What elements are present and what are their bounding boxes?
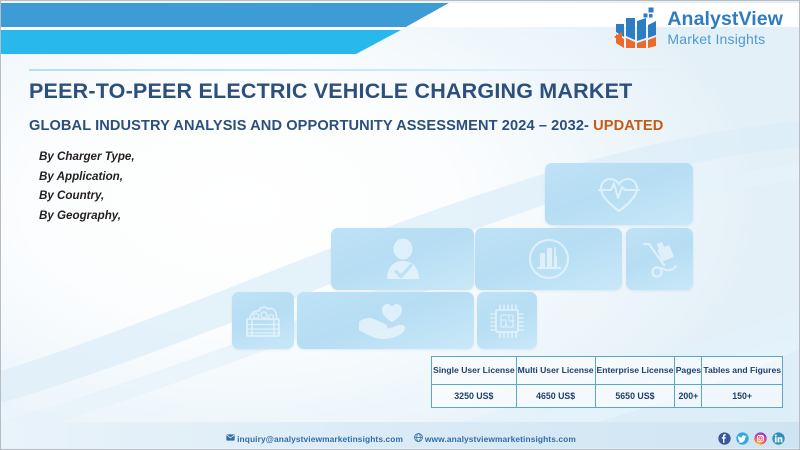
company-logo[interactable]: AnalystView Market Insights xyxy=(613,7,783,49)
list-item: By Country, xyxy=(39,186,135,206)
list-item: By Charger Type, xyxy=(39,147,135,167)
page-title: PEER-TO-PEER ELECTRIC VEHICLE CHARGING M… xyxy=(29,79,689,104)
footer-social-links xyxy=(718,432,785,445)
tile-consumer[interactable] xyxy=(331,228,474,290)
user-check-icon xyxy=(381,238,425,280)
report-cover-slide: AnalystView Market Insights PEER-TO-PEER… xyxy=(0,0,800,450)
table-header-pages: Pages xyxy=(675,357,702,385)
footer-website[interactable]: www.analystviewmarketinsights.com xyxy=(425,434,576,444)
lab-beaker-chart-icon xyxy=(526,236,572,282)
header-divider-rule xyxy=(29,69,684,71)
linkedin-icon[interactable] xyxy=(772,432,785,445)
table-row-header: Single User License Multi User License E… xyxy=(432,357,783,385)
segmentation-list: By Charger Type, By Application, By Coun… xyxy=(39,147,135,225)
subtitle-updated-badge: UPDATED xyxy=(593,118,663,134)
table-row: 3250 US$ 4650 US$ 5650 US$ 200+ 150+ xyxy=(432,385,783,408)
page-subtitle: GLOBAL INDUSTRY ANALYSIS AND OPPORTUNITY… xyxy=(29,118,749,134)
logo-tagline: Market Insights xyxy=(667,32,783,46)
tile-services[interactable] xyxy=(297,292,474,349)
table-header-single-user: Single User License xyxy=(432,357,517,385)
table-header-enterprise: Enterprise License xyxy=(595,357,675,385)
table-cell-multi-user-price: 4650 US$ xyxy=(516,385,595,408)
hand-heart-icon xyxy=(355,299,417,343)
tile-logistics[interactable] xyxy=(626,228,693,290)
globe-icon xyxy=(414,433,423,442)
heartbeat-pulse-icon xyxy=(596,174,642,214)
table-cell-tables-figures: 150+ xyxy=(702,385,783,408)
bar-chart-logo-icon xyxy=(613,7,659,49)
food-crate-icon xyxy=(243,302,283,340)
instagram-icon[interactable] xyxy=(754,432,767,445)
footer-email[interactable]: inquiry@analystviewmarketinsights.com xyxy=(237,434,403,444)
subtitle-main-text: GLOBAL INDUSTRY ANALYSIS AND OPPORTUNITY… xyxy=(29,118,593,134)
footer-contact-info: inquiry@analystviewmarketinsights.com ww… xyxy=(1,433,800,444)
tile-healthcare[interactable] xyxy=(545,163,693,225)
list-item: By Application, xyxy=(39,167,135,187)
header-band-lower xyxy=(1,30,401,54)
list-item: By Geography, xyxy=(39,206,135,226)
logo-company-name: AnalystView xyxy=(667,10,783,30)
table-header-tables-figures: Tables and Figures xyxy=(702,357,783,385)
hand-truck-icon xyxy=(638,238,682,280)
table-cell-single-user-price: 3250 US$ xyxy=(432,385,517,408)
logo-wordmark: AnalystView Market Insights xyxy=(667,10,783,47)
twitter-icon[interactable] xyxy=(736,432,749,445)
table-cell-pages: 200+ xyxy=(675,385,702,408)
microchip-icon xyxy=(487,301,527,341)
envelope-icon xyxy=(226,433,235,442)
table-header-multi-user: Multi User License xyxy=(516,357,595,385)
tile-semiconductor[interactable] xyxy=(477,292,537,349)
tile-chemicals[interactable] xyxy=(475,228,622,290)
price-table: Single User License Multi User License E… xyxy=(431,356,783,408)
tile-food[interactable] xyxy=(232,292,294,349)
table-cell-enterprise-price: 5650 US$ xyxy=(595,385,675,408)
header-band-upper xyxy=(1,3,449,27)
facebook-icon[interactable] xyxy=(718,432,731,445)
